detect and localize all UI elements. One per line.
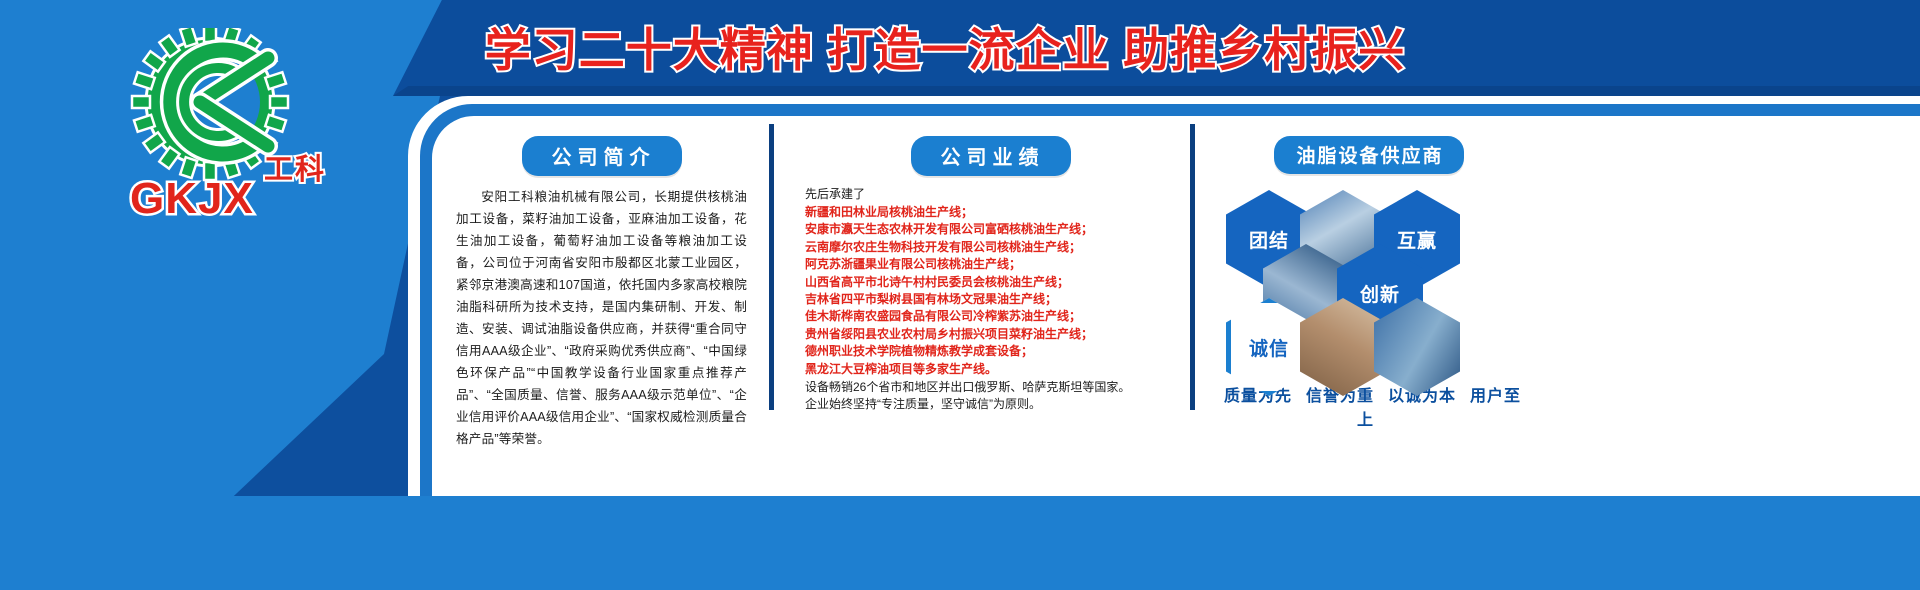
achievement-item: 贵州省绥阳县农业农村局乡村振兴项目菜籽油生产线； xyxy=(805,326,1176,343)
achievement-item: 黑龙江大豆榨油项目等多家生产线。 xyxy=(805,361,1176,378)
panels-container: 公司简介 安阳工科粮油机械有限公司，长期提供核桃油加工设备，菜籽油加工设备，亚麻… xyxy=(432,116,1920,416)
achievements-list: 新疆和田林业局核桃油生产线；安康市瀛天生态农林开发有限公司富硒核桃油生产线；云南… xyxy=(805,204,1176,378)
panel-divider-2 xyxy=(1190,124,1195,410)
achievement-item: 德州职业技术学院植物精炼教学成套设备； xyxy=(805,343,1176,360)
panel-divider-1 xyxy=(769,124,774,410)
panel-heading-supplier: 油脂设备供应商 xyxy=(1274,136,1463,174)
supplier-slogan: 质量为先信誉为重以诚为本用户至上 xyxy=(1208,382,1530,430)
hexagon-cluster: 团结互赢创新诚信 xyxy=(1208,184,1538,374)
banner-title: 学习二十大精神 打造一流企业 助推乡村振兴 xyxy=(440,16,1450,78)
title-banner-shadow xyxy=(393,86,1920,96)
achievement-item: 佳木斯桦南农盛园食品有限公司冷榨紫苏油生产线； xyxy=(805,308,1176,325)
panel-heading-achievements: 公司业绩 xyxy=(911,136,1071,176)
panel-supplier: 油脂设备供应商 团结互赢创新诚信 质量为先信誉为重以诚为本用户至上 xyxy=(1190,116,1540,416)
achievement-item: 安康市瀛天生态农林开发有限公司富硒核桃油生产线； xyxy=(805,221,1176,238)
logo-english-text: GKJX xyxy=(130,174,254,224)
achievement-item: 山西省高平市北诗午村村民委员会核桃油生产线； xyxy=(805,274,1176,291)
company-logo: 工科 GKJX xyxy=(118,28,318,218)
panel-heading-intro: 公司简介 xyxy=(522,136,682,176)
achievement-item: 阿克苏浙疆果业有限公司核桃油生产线； xyxy=(805,256,1176,273)
panel-achievements: 公司业绩 先后承建了 新疆和田林业局核桃油生产线；安康市瀛天生态农林开发有限公司… xyxy=(769,116,1190,416)
achievement-item: 吉林省四平市梨树县国有林场文冠果油生产线； xyxy=(805,291,1176,308)
bottom-blue-strip xyxy=(0,496,1920,590)
company-intro-body: 安阳工科粮油机械有限公司，长期提供核桃油加工设备，菜籽油加工设备，亚麻油加工设备… xyxy=(456,186,747,450)
achievements-tail-1: 设备畅销26个省市和地区并出口俄罗斯、哈萨克斯坦等国家。 xyxy=(805,379,1176,396)
achievement-item: 云南摩尔农庄生物科技开发有限公司核桃油生产线； xyxy=(805,239,1176,256)
achievements-intro: 先后承建了 xyxy=(805,186,1176,203)
achievement-item: 新疆和田林业局核桃油生产线； xyxy=(805,204,1176,221)
panel-company-intro: 公司简介 安阳工科粮油机械有限公司，长期提供核桃油加工设备，菜籽油加工设备，亚麻… xyxy=(432,116,769,416)
achievements-tail-2: 企业始终坚持“专注质量，坚守诚信”为原则。 xyxy=(805,396,1176,413)
logo-chinese-text: 工科 xyxy=(264,146,326,188)
slogan-phrase: 质量为先 xyxy=(1224,388,1292,405)
